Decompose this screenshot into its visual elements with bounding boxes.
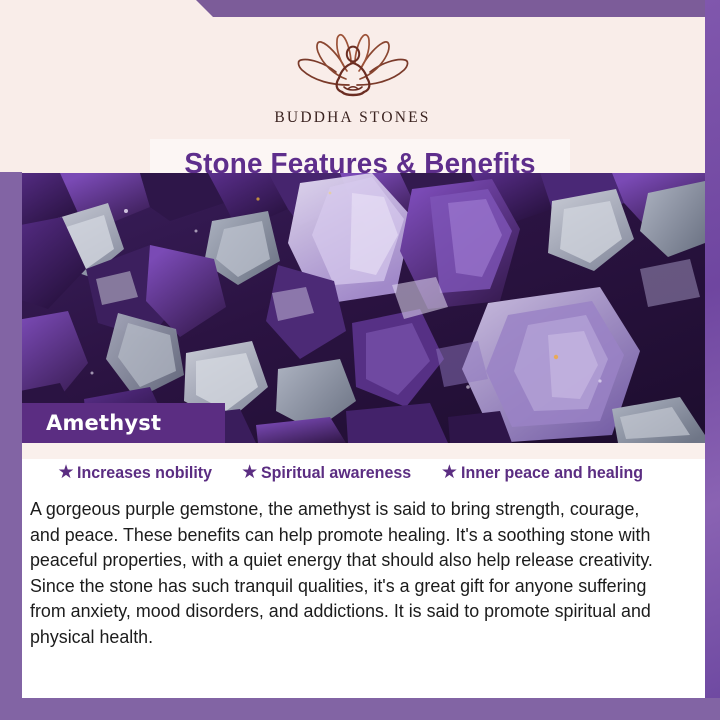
stone-name-banner: Amethyst <box>20 403 225 443</box>
star-icon: ★ <box>241 463 258 482</box>
benefit-item: ★ Inner peace and healing <box>441 463 655 483</box>
brand-name: BUDDHA STONES <box>274 109 430 127</box>
star-icon: ★ <box>57 463 74 482</box>
brand-logo: BUDDHA STONES <box>0 27 705 127</box>
stone-name-label: Amethyst <box>20 411 161 435</box>
star-icon: ★ <box>441 463 458 482</box>
benefit-label: Inner peace and healing <box>461 463 643 483</box>
frame-border-left <box>0 172 22 720</box>
lotus-meditation-icon <box>278 27 428 105</box>
header-section: BUDDHA STONES Stone Features & Benefits <box>0 17 705 173</box>
stone-description: A gorgeous purple gemstone, the amethyst… <box>30 496 673 649</box>
frame-border-right <box>705 0 720 720</box>
top-accent-band <box>0 0 720 17</box>
stone-features-infographic: BUDDHA STONES Stone Features & Benefits <box>0 0 720 720</box>
content-top-tint <box>22 443 705 459</box>
benefit-label: Spiritual awareness <box>261 463 411 483</box>
benefit-item: ★ Increases nobility <box>57 463 221 483</box>
content-section: ★ Increases nobility ★ Spiritual awarene… <box>22 443 705 698</box>
benefits-list: ★ Increases nobility ★ Spiritual awarene… <box>22 463 690 483</box>
frame-border-bottom <box>0 698 720 720</box>
benefit-label: Increases nobility <box>77 463 212 483</box>
benefit-item: ★ Spiritual awareness <box>241 463 421 483</box>
